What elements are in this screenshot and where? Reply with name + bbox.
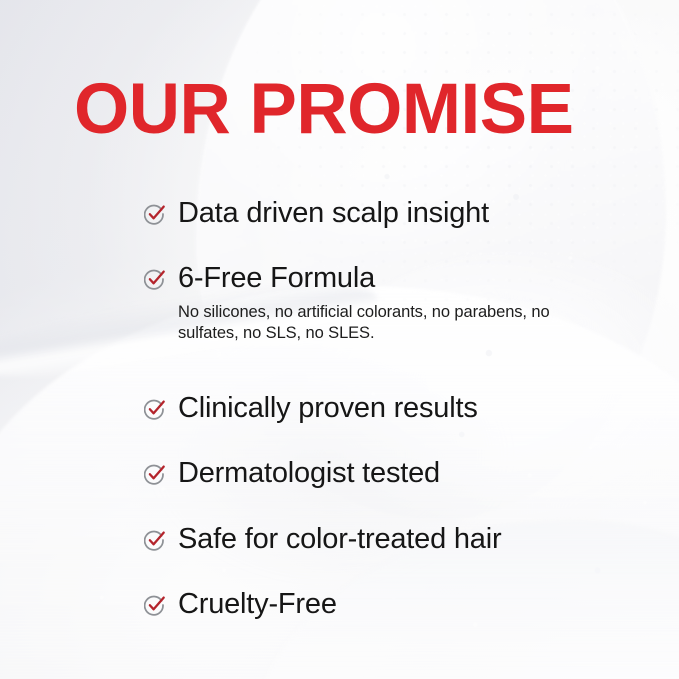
list-item-body: 6-Free Formula No silicones, no artifici… (178, 261, 644, 344)
list-item: Clinically proven results (144, 391, 644, 426)
check-circle-icon (144, 529, 166, 551)
promise-list: Data driven scalp insight 6-Free Formula… (144, 196, 644, 622)
check-circle-icon (144, 398, 166, 420)
check-circle-icon (144, 463, 166, 485)
list-item-body: Clinically proven results (178, 391, 644, 426)
check-circle-icon (144, 594, 166, 616)
list-item-body: Safe for color-treated hair (178, 522, 644, 557)
list-item: Dermatologist tested (144, 456, 644, 491)
list-item: Safe for color-treated hair (144, 522, 644, 557)
list-item: Cruelty-Free (144, 587, 644, 622)
list-item: Data driven scalp insight (144, 196, 644, 231)
list-item: 6-Free Formula No silicones, no artifici… (144, 261, 644, 344)
list-item-label: Safe for color-treated hair (178, 522, 644, 557)
poster-content: OUR PROMISE Data driven scalp insight (0, 0, 679, 679)
page-title: OUR PROMISE (74, 74, 573, 145)
check-circle-icon (144, 203, 166, 225)
list-item-label: Dermatologist tested (178, 456, 644, 491)
list-item-body: Dermatologist tested (178, 456, 644, 491)
list-item-label: 6-Free Formula (178, 261, 644, 296)
list-item-body: Data driven scalp insight (178, 196, 644, 231)
list-item-body: Cruelty-Free (178, 587, 644, 622)
check-circle-icon (144, 268, 166, 290)
list-item-label: Data driven scalp insight (178, 196, 644, 231)
list-item-subtext: No silicones, no artificial colorants, n… (178, 302, 550, 344)
list-item-label: Clinically proven results (178, 391, 644, 426)
list-item-label: Cruelty-Free (178, 587, 644, 622)
promise-poster: OUR PROMISE Data driven scalp insight (0, 0, 679, 679)
